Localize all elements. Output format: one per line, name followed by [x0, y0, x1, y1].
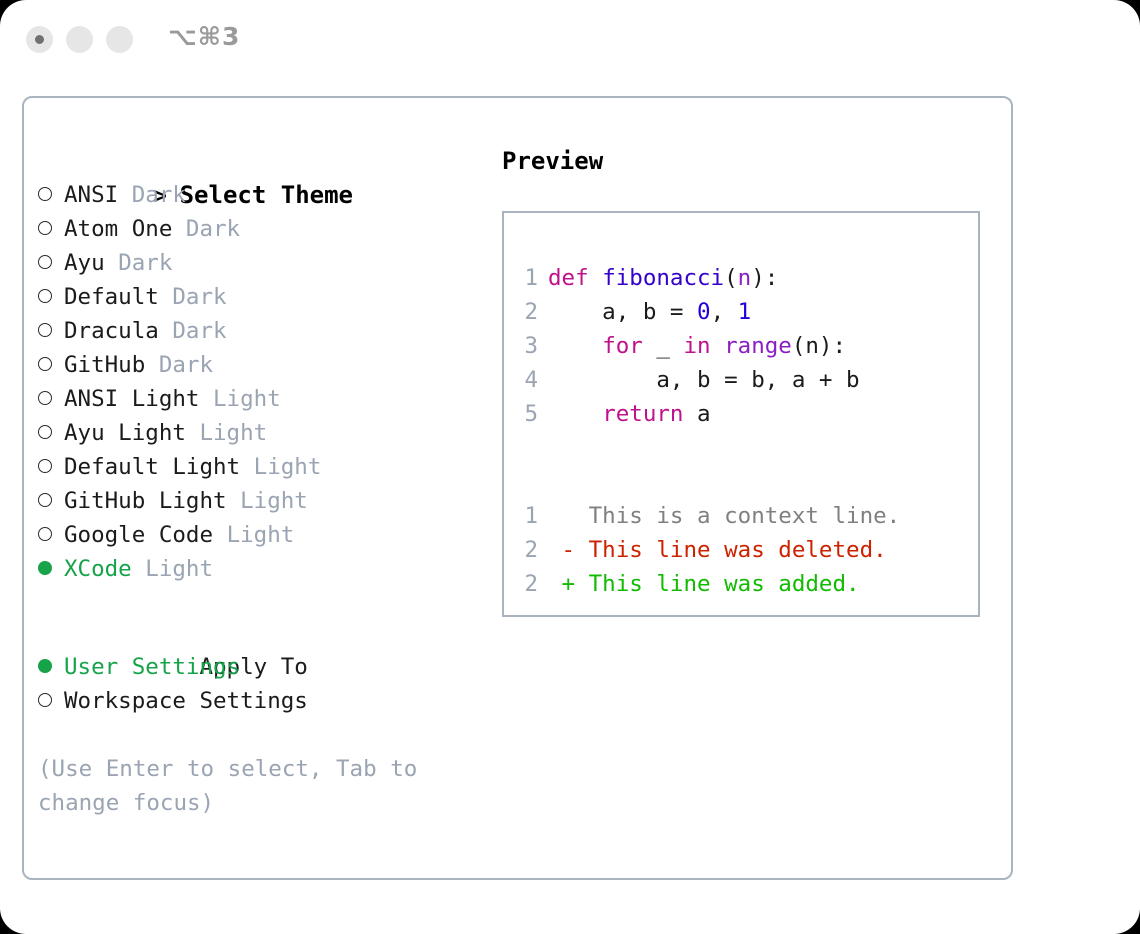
theme-variant: Dark: [172, 284, 226, 310]
diff-sign: [548, 503, 589, 529]
theme-variant-spacer: [186, 420, 200, 446]
theme-name: Atom One: [64, 216, 172, 242]
line-number: 3: [516, 329, 538, 363]
theme-variant: Light: [199, 420, 267, 446]
code-token: return: [602, 401, 683, 427]
theme-list-item[interactable]: GitHub Dark: [38, 348, 488, 382]
code-token: 0: [697, 299, 711, 325]
theme-variant-spacer: [159, 318, 173, 344]
radio-unselected-icon: [38, 519, 64, 553]
radio-unselected-icon: [38, 315, 64, 349]
code-token: (: [724, 265, 738, 291]
code-token: def: [548, 265, 602, 291]
theme-name: Dracula: [64, 318, 159, 344]
keyboard-hint: (Use Enter to select, Tab to change focu…: [38, 752, 438, 820]
theme-variant: Dark: [132, 182, 186, 208]
close-button[interactable]: [26, 26, 53, 53]
theme-name: Default Light: [64, 454, 240, 480]
theme-name: GitHub: [64, 352, 145, 378]
hollow-circle-icon: [38, 187, 52, 201]
hollow-circle-icon: [38, 459, 52, 473]
code-line: 2 a, b = 0, 1: [516, 295, 900, 329]
code-token: a, b =: [548, 299, 697, 325]
line-number: 4: [516, 363, 538, 397]
radio-unselected-icon: [38, 451, 64, 485]
diff-sign: -: [548, 537, 589, 563]
theme-variant: Light: [227, 522, 295, 548]
diff-line: 2 - This line was deleted.: [516, 533, 900, 567]
theme-variant: Light: [254, 454, 322, 480]
diff-sign: +: [548, 571, 589, 597]
code-line: 3 for _ in range(n):: [516, 329, 900, 363]
theme-list-item[interactable]: Atom One Dark: [38, 212, 488, 246]
radio-unselected-icon: [38, 349, 64, 383]
theme-variant: Light: [145, 556, 213, 582]
diff-line: 2 + This line was added.: [516, 567, 900, 601]
line-number: 2: [516, 295, 538, 329]
code-blank-line: [516, 431, 900, 465]
theme-variant-spacer: [145, 352, 159, 378]
code-token: _: [643, 333, 684, 359]
zoom-button[interactable]: [106, 26, 133, 53]
theme-variant: Dark: [186, 216, 240, 242]
radio-unselected-icon: [38, 179, 64, 213]
hollow-circle-icon: [38, 527, 52, 541]
code-token: ):: [751, 265, 778, 291]
hollow-circle-icon: [38, 221, 52, 235]
theme-list-item[interactable]: XCode Light: [38, 552, 488, 586]
code-token: in: [683, 333, 710, 359]
theme-variant-spacer: [172, 216, 186, 242]
theme-list-item[interactable]: Dracula Dark: [38, 314, 488, 348]
line-number: 1: [516, 261, 538, 295]
hollow-circle-icon: [38, 357, 52, 371]
apply-to-section: oApply To User SettingsWorkspace Setting…: [38, 616, 488, 718]
line-number: 2: [516, 567, 538, 601]
filled-circle-icon: [38, 659, 52, 673]
radio-unselected-icon: [38, 417, 64, 451]
theme-variant-spacer: [240, 454, 254, 480]
theme-variant: Light: [213, 386, 281, 412]
radio-unselected-icon: [38, 247, 64, 281]
theme-name: Default: [64, 284, 159, 310]
radio-unselected-icon: [38, 281, 64, 315]
preview-column: Preview 1def fibonacci(n):2 a, b = 0, 13…: [502, 144, 997, 617]
theme-variant-spacer: [227, 488, 241, 514]
line-number: 2: [516, 533, 538, 567]
select-theme-heading-label: Select Theme: [180, 181, 353, 209]
diff-text: This line was added.: [589, 571, 860, 597]
line-number: 1: [516, 499, 538, 533]
radio-unselected-icon: [38, 685, 64, 719]
theme-variant-spacer: [105, 250, 119, 276]
theme-list-item[interactable]: Ayu Dark: [38, 246, 488, 280]
code-token: n: [738, 265, 752, 291]
theme-variant-spacer: [132, 556, 146, 582]
hollow-circle-icon: [38, 391, 52, 405]
code-token: for: [602, 333, 643, 359]
theme-variant: Dark: [159, 352, 213, 378]
diff-line: 1 This is a context line.: [516, 499, 900, 533]
radio-unselected-icon: [38, 485, 64, 519]
hollow-circle-icon: [38, 693, 52, 707]
theme-name: XCode: [64, 556, 132, 582]
theme-variant-spacer: [213, 522, 227, 548]
code-token: fibonacci: [602, 265, 724, 291]
title-bar: ⌥⌘3: [0, 0, 1140, 80]
code-line: 5 return a: [516, 397, 900, 431]
theme-list: ANSI DarkAtom One DarkAyu DarkDefault Da…: [38, 178, 488, 586]
theme-name: ANSI: [64, 182, 118, 208]
hollow-circle-icon: [38, 323, 52, 337]
code-line: 4 a, b = b, a + b: [516, 363, 900, 397]
theme-list-item[interactable]: GitHub Light Light: [38, 484, 488, 518]
theme-name: GitHub Light: [64, 488, 227, 514]
code-token: range: [724, 333, 792, 359]
preview-code: 1def fibonacci(n):2 a, b = 0, 13 for _ i…: [516, 261, 900, 601]
code-token: [548, 333, 602, 359]
code-line: 1def fibonacci(n):: [516, 261, 900, 295]
filled-circle-icon: [38, 561, 52, 575]
code-token: a: [683, 401, 710, 427]
code-token: [548, 401, 602, 427]
theme-variant: Dark: [118, 250, 172, 276]
theme-list-item[interactable]: ANSI Light Light: [38, 382, 488, 416]
apply-to-option-label: User Settings: [64, 654, 240, 680]
hollow-circle-icon: [38, 255, 52, 269]
select-theme-heading: >Select Theme: [38, 144, 488, 178]
apply-to-option[interactable]: Workspace Settings: [38, 684, 488, 718]
theme-list-item[interactable]: Ayu Light Light: [38, 416, 488, 450]
hollow-circle-icon: [38, 493, 52, 507]
code-token: ,: [711, 299, 738, 325]
preview-title: Preview: [502, 144, 997, 178]
code-token: [711, 333, 725, 359]
apply-to-option-label: Workspace Settings: [64, 688, 308, 714]
preview-box: 1def fibonacci(n):2 a, b = 0, 13 for _ i…: [502, 211, 980, 617]
theme-name: Ayu: [64, 250, 105, 276]
radio-selected-icon: [38, 651, 64, 685]
minimize-button[interactable]: [66, 26, 93, 53]
theme-variant: Dark: [172, 318, 226, 344]
hollow-circle-icon: [38, 289, 52, 303]
close-dot-icon: [35, 35, 44, 44]
theme-variant-spacer: [159, 284, 173, 310]
code-token: 1: [738, 299, 752, 325]
theme-selector-column: >Select Theme ANSI DarkAtom One DarkAyu …: [38, 144, 488, 820]
theme-list-item[interactable]: Google Code Light: [38, 518, 488, 552]
keyboard-shortcut-label: ⌥⌘3: [168, 22, 240, 51]
theme-variant-spacer: [199, 386, 213, 412]
theme-variant: Light: [240, 488, 308, 514]
radio-selected-icon: [38, 553, 64, 587]
hollow-circle-icon: [38, 425, 52, 439]
theme-list-item[interactable]: Default Dark: [38, 280, 488, 314]
radio-unselected-icon: [38, 383, 64, 417]
theme-name: Ayu Light: [64, 420, 186, 446]
theme-name: ANSI Light: [64, 386, 199, 412]
theme-variant-spacer: [118, 182, 132, 208]
diff-text: This line was deleted.: [589, 537, 887, 563]
theme-list-item[interactable]: Default Light Light: [38, 450, 488, 484]
code-token: (n):: [792, 333, 846, 359]
code-blank-line: [516, 465, 900, 499]
diff-text: This is a context line.: [589, 503, 901, 529]
main-panel: >Select Theme ANSI DarkAtom One DarkAyu …: [22, 96, 1013, 880]
app-window: ⌥⌘3 >Select Theme ANSI DarkAtom One Dark…: [0, 0, 1140, 934]
theme-name: Google Code: [64, 522, 213, 548]
apply-to-heading: oApply To: [38, 616, 488, 650]
code-token: a, b = b, a + b: [548, 367, 860, 393]
line-number: 5: [516, 397, 538, 431]
radio-unselected-icon: [38, 213, 64, 247]
